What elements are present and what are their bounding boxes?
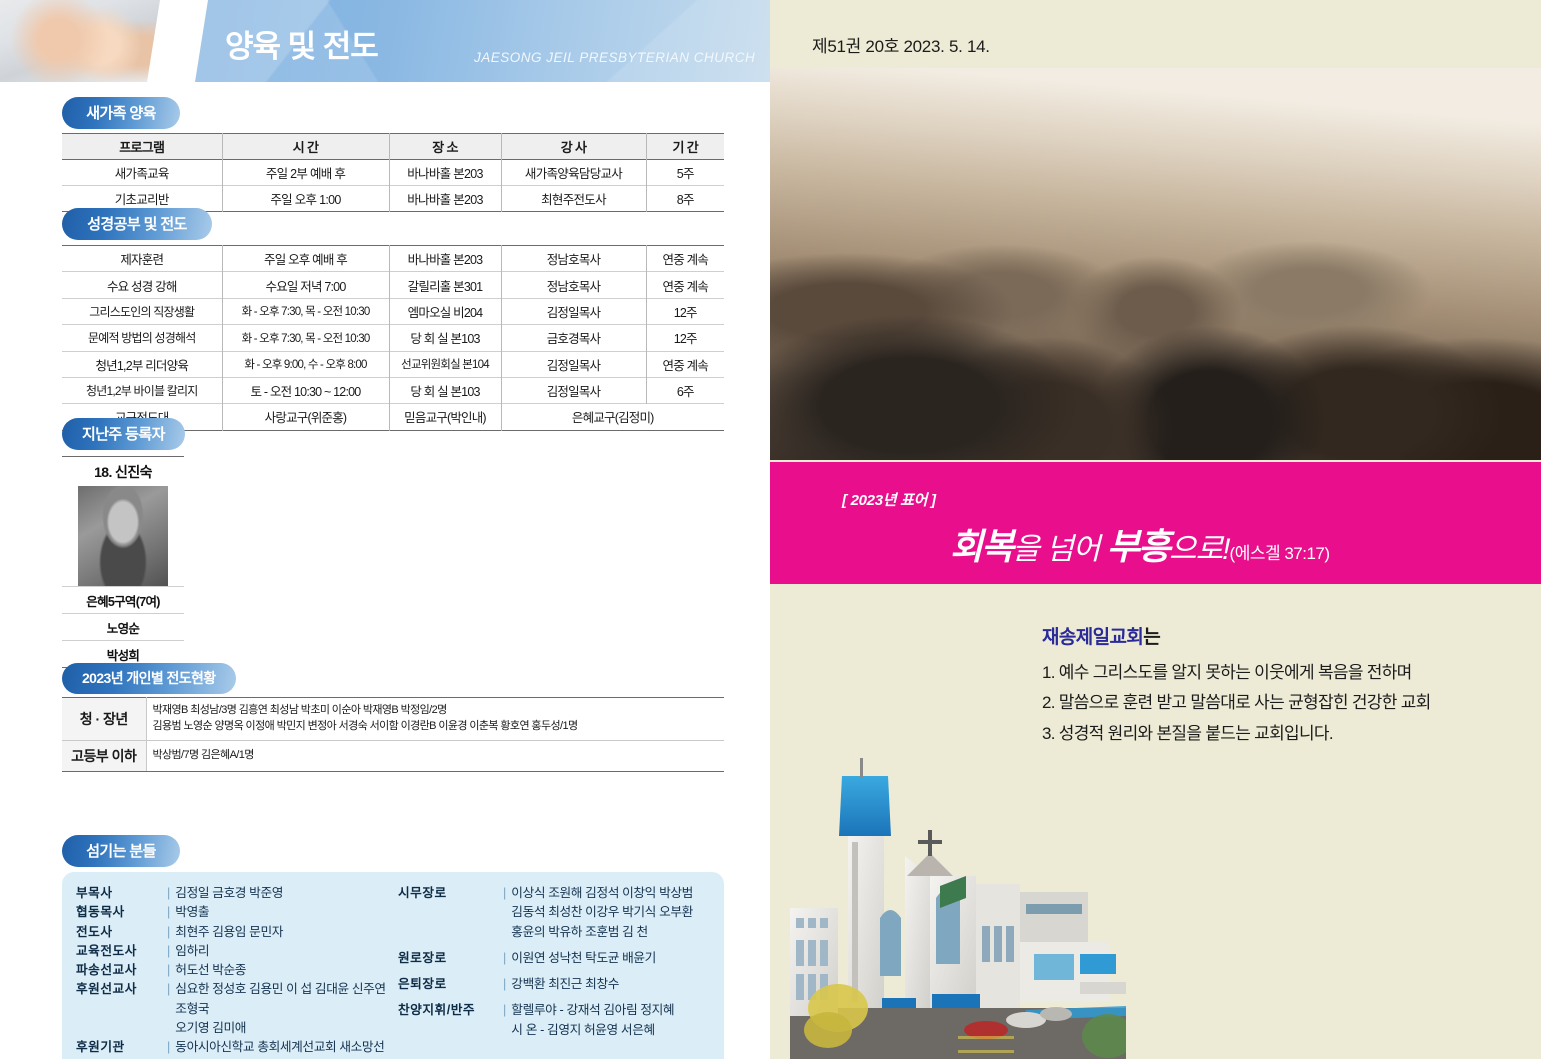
left-page: 양육 및 전도 JAESONG JEIL PRESBYTERIAN CHURCH… bbox=[0, 0, 770, 1059]
th-duration: 기 간 bbox=[646, 134, 724, 160]
cell-place: 당 회 실 본103 bbox=[389, 377, 501, 403]
staff-value: 강백환 최진근 최창수 bbox=[511, 975, 619, 994]
staff-separator-icon: | bbox=[164, 903, 175, 922]
staff-value: 허도선 박순종 bbox=[175, 961, 246, 980]
slogan-bible-reference: (에스겔 37:17) bbox=[1230, 544, 1330, 563]
staff-value: 최현주 김용임 문민자 bbox=[175, 923, 283, 942]
staff-separator-icon: | bbox=[500, 1001, 511, 1020]
staff-key: 협동목사 bbox=[76, 903, 164, 922]
page-title: 양육 및 전도 bbox=[225, 21, 378, 66]
th-place: 장 소 bbox=[389, 134, 501, 160]
staff-key: 교육전도사 bbox=[76, 942, 164, 961]
cell-group-names: 박상범/7명 김은혜A/1명 bbox=[146, 740, 724, 771]
staff-row: 시무장로 | 이상식 조원해 김정석 이창익 박상범 김동석 최성찬 이강우 박… bbox=[398, 884, 710, 942]
staff-value: 김정일 금호경 박준영 bbox=[175, 884, 283, 903]
cell-duration: 연중 계속 bbox=[646, 272, 724, 298]
table-row: 청년1,2부 바이블 칼리지 토 - 오전 10:30 ~ 12:00 당 회 … bbox=[62, 377, 724, 403]
cell-program: 그리스도인의 직장생활 bbox=[62, 298, 222, 324]
cell-place: 당 회 실 본103 bbox=[389, 325, 501, 351]
evangelism-line: 김용범 노영순 양명옥 이정애 박민지 변정아 서경숙 서이함 이경란B 이윤경… bbox=[153, 719, 719, 735]
staff-row: 은퇴장로 | 강백환 최진근 최창수 bbox=[398, 975, 710, 994]
staff-separator-icon: | bbox=[500, 884, 511, 903]
staff-row: 찬양지휘/반주 | 할렐루야 - 강재석 김아림 정지혜 시 온 - 김영지 허… bbox=[398, 1001, 710, 1040]
table-row: 청년1,2부 리더양육 화 - 오후 9:00, 수 - 오후 8:00 선교위… bbox=[62, 351, 724, 377]
cell-time: 화 - 오후 7:30, 목 - 오전 10:30 bbox=[222, 325, 389, 351]
slogan-part-3: 부흥 bbox=[1107, 526, 1169, 567]
cell-program: 청년1,2부 리더양육 bbox=[62, 351, 222, 377]
table-row: 수요 성경 강해 수요일 저녁 7:00 갈릴리홀 본301 정남호목사 연중 … bbox=[62, 272, 724, 298]
slogan-banner: [ 2023년 표어 ] 회복을 넘어 부흥으로!(에스겔 37:17) bbox=[770, 462, 1541, 584]
section-new-family: 새가족 양육 bbox=[62, 97, 180, 129]
staff-row: 파송선교사 | 허도선 박순종 bbox=[76, 961, 388, 980]
cell-district-2: 믿음교구(박인내) bbox=[389, 404, 501, 430]
cell-teacher: 정남호목사 bbox=[501, 272, 646, 298]
staff-key: 후원선교사 bbox=[76, 980, 164, 999]
staff-row: 후원기관 | 동아시아신학교 총회세계선교회 새소망선교회 bbox=[76, 1038, 388, 1059]
mission-item: 3. 성경적 원리와 본질을 붙드는 교회입니다. bbox=[1042, 719, 1512, 749]
cell-duration: 12주 bbox=[646, 298, 724, 324]
spacer bbox=[398, 968, 710, 975]
mission-item: 2. 말씀으로 훈련 받고 말씀대로 사는 균형잡힌 건강한 교회 bbox=[1042, 688, 1512, 718]
cell-time: 화 - 오후 9:00, 수 - 오후 8:00 bbox=[222, 351, 389, 377]
staff-value: 심요한 정성호 김용민 이 섭 김대윤 신주연 조형국 오기영 김미애 bbox=[175, 980, 388, 1038]
evangelism-line: 박상범/7명 김은혜A/1명 bbox=[153, 748, 719, 764]
staff-key: 시무장로 bbox=[398, 884, 500, 903]
cell-time: 화 - 오후 7:30, 목 - 오전 10:30 bbox=[222, 298, 389, 324]
mission-heading-suffix: 는 bbox=[1143, 627, 1160, 648]
mission-heading: 재송제일교회는 bbox=[1042, 622, 1512, 649]
cell-group-names: 박재영B 최성남/3명 김흥연 최성남 박초미 이순아 박재영B 박정임/2명 … bbox=[146, 698, 724, 741]
staff-key: 찬양지휘/반주 bbox=[398, 1001, 500, 1020]
cell-place: 바나바홀 본203 bbox=[389, 160, 501, 186]
staff-key: 후원기관 bbox=[76, 1038, 164, 1057]
staff-value: 동아시아신학교 총회세계선교회 새소망선교회 bbox=[175, 1038, 388, 1059]
bible-study-table-wrap: 제자훈련 주일 오후 예배 후 바나바홀 본203 정남호목사 연중 계속 수요… bbox=[62, 245, 724, 431]
section-registrants: 지난주 등록자 bbox=[62, 418, 185, 450]
table-row: 그리스도인의 직장생활 화 - 오후 7:30, 목 - 오전 10:30 엠마… bbox=[62, 298, 724, 324]
cell-program: 수요 성경 강해 bbox=[62, 272, 222, 298]
spacer bbox=[398, 942, 710, 949]
cell-teacher: 최현주전도사 bbox=[501, 186, 646, 212]
section-evangelism: 2023년 개인별 전도현황 bbox=[62, 663, 236, 694]
registrant-photo bbox=[78, 486, 168, 586]
registrant-district: 은혜5구역(7여) bbox=[62, 586, 184, 614]
staff-row: 후원선교사 | 심요한 정성호 김용민 이 섭 김대윤 신주연 조형국 오기영 … bbox=[76, 980, 388, 1038]
table-row: 고등부 이하 박상범/7명 김은혜A/1명 bbox=[62, 740, 724, 771]
staff-value: 이상식 조원해 김정석 이창익 박상범 김동석 최성찬 이강우 박기식 오부환 … bbox=[511, 884, 693, 942]
cell-teacher: 새가족양육담당교사 bbox=[501, 160, 646, 186]
cell-duration: 6주 bbox=[646, 377, 724, 403]
cell-teacher: 김정일목사 bbox=[501, 298, 646, 324]
evangelism-table: 청 · 장년 박재영B 최성남/3명 김흥연 최성남 박초미 이순아 박재영B … bbox=[62, 697, 724, 772]
slogan-text: 회복을 넘어 부흥으로!(에스겔 37:17) bbox=[950, 518, 1330, 570]
staff-column-left: 부목사 | 김정일 금호경 박준영 협동목사 | 박영출 전도사 | 최현주 김… bbox=[76, 884, 388, 1059]
cell-duration: 12주 bbox=[646, 325, 724, 351]
slogan-part-2: 을 넘어 bbox=[1012, 533, 1106, 566]
volume-date: 제51권 20호 2023. 5. 14. bbox=[812, 32, 990, 57]
staff-separator-icon: | bbox=[164, 923, 175, 942]
new-family-table-wrap: 프로그램 시 간 장 소 강 사 기 간 새가족교육 주일 2부 예배 후 바나… bbox=[62, 133, 724, 212]
staff-row: 교육전도사 | 임하리 bbox=[76, 942, 388, 961]
staff-key: 원로장로 bbox=[398, 949, 500, 968]
cell-teacher: 김정일목사 bbox=[501, 377, 646, 403]
cell-time: 주일 오후 1:00 bbox=[222, 186, 389, 212]
evangelism-line: 박재영B 최성남/3명 김흥연 최성남 박초미 이순아 박재영B 박정임/2명 bbox=[153, 703, 719, 719]
staff-separator-icon: | bbox=[164, 1038, 175, 1057]
mission-church-name: 재송제일교회 bbox=[1042, 627, 1143, 648]
staff-separator-icon: | bbox=[500, 949, 511, 968]
bible-study-table: 제자훈련 주일 오후 예배 후 바나바홀 본203 정남호목사 연중 계속 수요… bbox=[62, 245, 724, 431]
mission-statement: 재송제일교회는 1. 예수 그리스도를 알지 못하는 이웃에게 복음을 전하며 … bbox=[1042, 622, 1512, 749]
section-pill-evangelism: 2023년 개인별 전도현황 bbox=[62, 663, 236, 694]
staff-key: 은퇴장로 bbox=[398, 975, 500, 994]
table-row: 문예적 방법의 성경해석 화 - 오후 7:30, 목 - 오전 10:30 당… bbox=[62, 325, 724, 351]
evangelism-table-wrap: 청 · 장년 박재영B 최성남/3명 김흥연 최성남 박초미 이순아 박재영B … bbox=[62, 697, 724, 772]
staff-row: 부목사 | 김정일 금호경 박준영 bbox=[76, 884, 388, 903]
th-teacher: 강 사 bbox=[501, 134, 646, 160]
cell-program: 새가족교육 bbox=[62, 160, 222, 186]
registrant-card: 18. 신진숙 은혜5구역(7여) 노영순 박성희 bbox=[62, 456, 184, 668]
cell-program: 제자훈련 bbox=[62, 246, 222, 272]
section-pill-new-family: 새가족 양육 bbox=[62, 97, 180, 129]
staff-value: 임하리 bbox=[175, 942, 209, 961]
cell-program: 문예적 방법의 성경해석 bbox=[62, 325, 222, 351]
staff-box: 부목사 | 김정일 금호경 박준영 협동목사 | 박영출 전도사 | 최현주 김… bbox=[62, 872, 724, 1059]
page-header: 양육 및 전도 JAESONG JEIL PRESBYTERIAN CHURCH bbox=[0, 0, 770, 82]
staff-row: 전도사 | 최현주 김용임 문민자 bbox=[76, 923, 388, 942]
slogan-part-1: 회복 bbox=[950, 526, 1012, 567]
table-header-row: 프로그램 시 간 장 소 강 사 기 간 bbox=[62, 134, 724, 160]
staff-separator-icon: | bbox=[164, 961, 175, 980]
staff-value: 이원연 성낙천 탁도균 배윤기 bbox=[511, 949, 656, 968]
th-program: 프로그램 bbox=[62, 134, 222, 160]
registrant-sponsor-1: 노영순 bbox=[62, 614, 184, 641]
cell-duration: 8주 bbox=[646, 186, 724, 212]
section-pill-bible-study: 성경공부 및 전도 bbox=[62, 208, 212, 240]
cell-time: 토 - 오전 10:30 ~ 12:00 bbox=[222, 377, 389, 403]
staff-separator-icon: | bbox=[164, 942, 175, 961]
section-pill-staff: 섬기는 분들 bbox=[62, 835, 180, 867]
staff-value: 박영출 bbox=[175, 903, 209, 922]
staff-key: 전도사 bbox=[76, 923, 164, 942]
staff-row: 협동목사 | 박영출 bbox=[76, 903, 388, 922]
cell-place: 갈릴리홀 본301 bbox=[389, 272, 501, 298]
registrant-name: 18. 신진숙 bbox=[62, 457, 184, 486]
th-time: 시 간 bbox=[222, 134, 389, 160]
cell-duration: 5주 bbox=[646, 160, 724, 186]
slogan-part-4: 으로! bbox=[1169, 533, 1230, 566]
staff-separator-icon: | bbox=[164, 980, 175, 999]
table-row: 제자훈련 주일 오후 예배 후 바나바홀 본203 정남호목사 연중 계속 bbox=[62, 246, 724, 272]
cell-group-label: 고등부 이하 bbox=[62, 740, 146, 771]
cell-place: 바나바홀 본203 bbox=[389, 246, 501, 272]
slogan-tag: [ 2023년 표어 ] bbox=[842, 489, 936, 510]
table-row: 청 · 장년 박재영B 최성남/3명 김흥연 최성남 박초미 이순아 박재영B … bbox=[62, 698, 724, 741]
staff-row: 원로장로 | 이원연 성낙천 탁도균 배윤기 bbox=[398, 949, 710, 968]
worship-service-photo bbox=[770, 68, 1541, 460]
cell-teacher: 금호경목사 bbox=[501, 325, 646, 351]
staff-separator-icon: | bbox=[500, 975, 511, 994]
cell-district-1: 사랑교구(위준홍) bbox=[222, 404, 389, 430]
cell-teacher: 정남호목사 bbox=[501, 246, 646, 272]
cell-program: 청년1,2부 바이블 칼리지 bbox=[62, 377, 222, 403]
staff-box-wrap: 부목사 | 김정일 금호경 박준영 협동목사 | 박영출 전도사 | 최현주 김… bbox=[62, 872, 724, 1059]
cell-place: 엠마오실 비204 bbox=[389, 298, 501, 324]
mission-item: 1. 예수 그리스도를 알지 못하는 이웃에게 복음을 전하며 bbox=[1042, 658, 1512, 688]
church-building-photo bbox=[790, 758, 1126, 1059]
section-pill-registrants: 지난주 등록자 bbox=[62, 418, 185, 450]
staff-value: 할렐루야 - 강재석 김아림 정지혜 시 온 - 김영지 허윤영 서은혜 bbox=[511, 1001, 674, 1040]
staff-key: 부목사 bbox=[76, 884, 164, 903]
cell-duration: 연중 계속 bbox=[646, 351, 724, 377]
cell-group-label: 청 · 장년 bbox=[62, 698, 146, 741]
header-english-subtitle: JAESONG JEIL PRESBYTERIAN CHURCH bbox=[474, 50, 755, 65]
spacer bbox=[398, 994, 710, 1001]
cell-time: 주일 2부 예배 후 bbox=[222, 160, 389, 186]
cell-place: 바나바홀 본203 bbox=[389, 186, 501, 212]
right-page: 제51권 20호 2023. 5. 14. [ 2023년 표어 ] 회복을 넘… bbox=[770, 0, 1541, 1059]
cell-time: 주일 오후 예배 후 bbox=[222, 246, 389, 272]
staff-key: 파송선교사 bbox=[76, 961, 164, 980]
cell-teacher: 김정일목사 bbox=[501, 351, 646, 377]
cell-place: 선교위원회실 본104 bbox=[389, 351, 501, 377]
cell-district-3: 은혜교구(김정미) bbox=[501, 404, 724, 430]
cell-time: 수요일 저녁 7:00 bbox=[222, 272, 389, 298]
section-staff: 섬기는 분들 bbox=[62, 835, 180, 867]
section-bible-study: 성경공부 및 전도 bbox=[62, 208, 212, 240]
cell-duration: 연중 계속 bbox=[646, 246, 724, 272]
staff-column-right: 시무장로 | 이상식 조원해 김정석 이창익 박상범 김동석 최성찬 이강우 박… bbox=[398, 884, 710, 1059]
new-family-table: 프로그램 시 간 장 소 강 사 기 간 새가족교육 주일 2부 예배 후 바나… bbox=[62, 133, 724, 212]
table-row: 새가족교육 주일 2부 예배 후 바나바홀 본203 새가족양육담당교사 5주 bbox=[62, 160, 724, 186]
bulletin-spread: 양육 및 전도 JAESONG JEIL PRESBYTERIAN CHURCH… bbox=[0, 0, 1541, 1059]
staff-separator-icon: | bbox=[164, 884, 175, 903]
